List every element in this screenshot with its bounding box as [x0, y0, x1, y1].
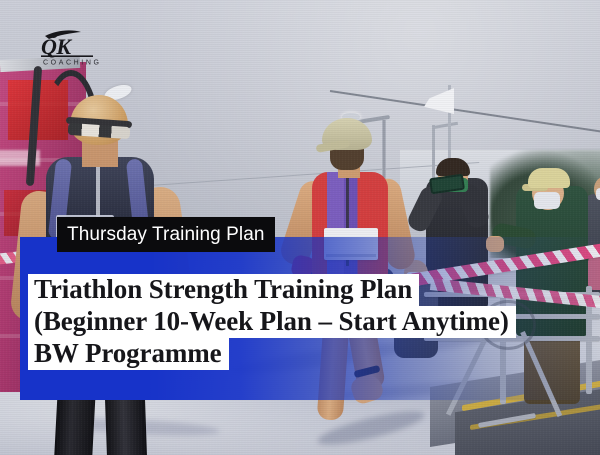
qk-coaching-logo[interactable]: QK COACHING — [31, 27, 111, 67]
logo-tagline: COACHING — [43, 59, 102, 66]
training-plan-banner-card: QK COACHING Thursday Training Plan Triat… — [0, 0, 600, 455]
logo-wordmark: QK — [41, 34, 72, 59]
svg-text:COACHING: COACHING — [43, 59, 102, 66]
page-title: Triathlon Strength Training Plan (Beginn… — [28, 274, 516, 370]
eyebrow-banner: Thursday Training Plan — [57, 217, 275, 252]
title-line-3: BW Programme — [28, 338, 229, 370]
face-mask — [534, 192, 560, 209]
logo-underline — [41, 55, 93, 57]
title-line-2: (Beginner 10-Week Plan – Start Anytime) — [28, 306, 516, 338]
eyebrow-label: Thursday Training Plan — [67, 224, 265, 246]
face-mask — [596, 188, 600, 200]
svg-text:QK: QK — [41, 34, 72, 59]
title-line-1: Triathlon Strength Training Plan — [28, 274, 419, 306]
yellow-cap — [528, 168, 570, 188]
spectator-hair — [436, 158, 470, 176]
